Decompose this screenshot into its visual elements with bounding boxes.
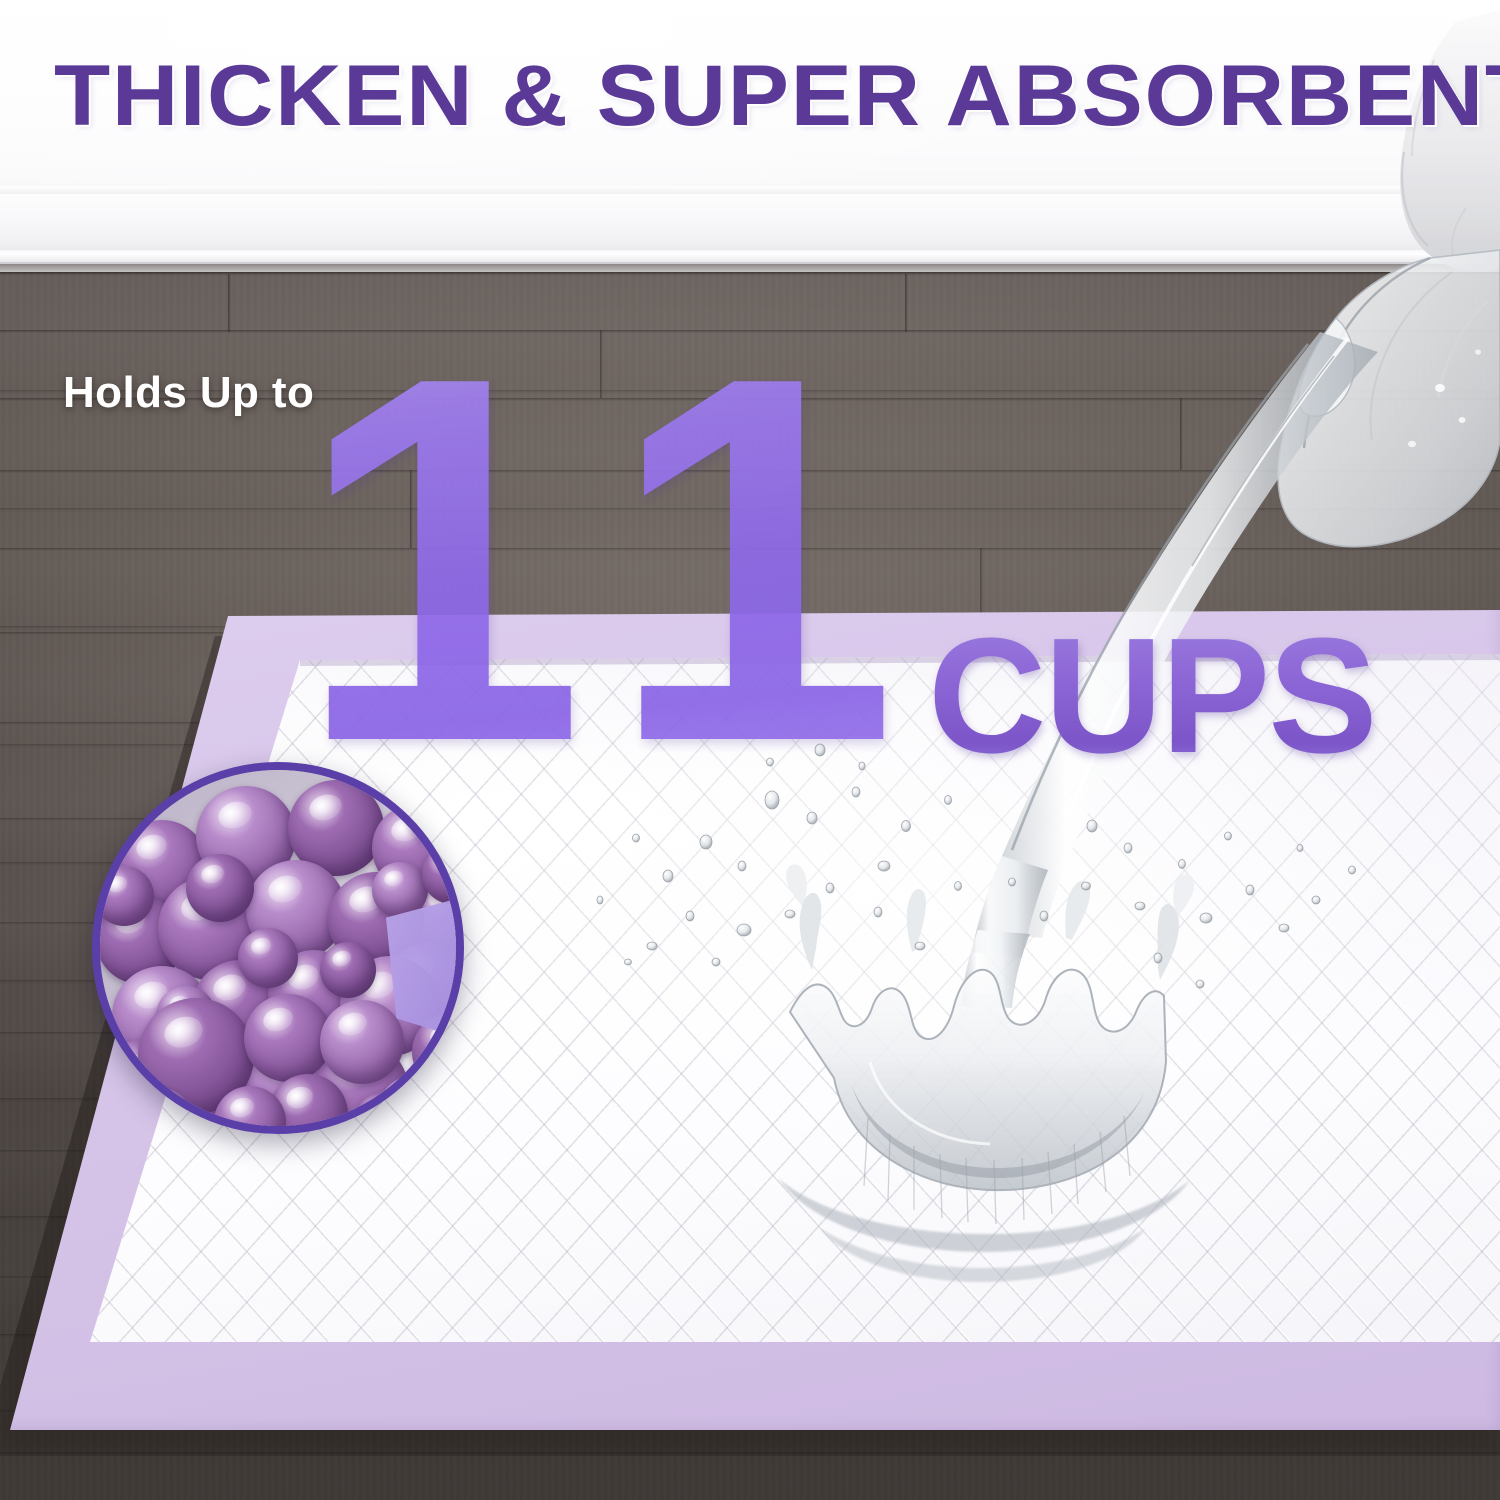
- gel-bead: [238, 928, 298, 988]
- holds-up-to-label: Holds Up to: [63, 368, 314, 418]
- pad-border-wedge: [386, 898, 460, 1038]
- cups-amount: 11: [296, 300, 950, 820]
- baseboard-top-edge: [0, 186, 1500, 194]
- gel-bead: [186, 854, 254, 922]
- baseboard-lip: [0, 250, 1500, 264]
- gel-bead: [244, 994, 332, 1082]
- product-feature-image: 11 CUPS Holds Up to THICKEN & SUPER ABSO…: [0, 0, 1500, 1500]
- gel-bead-closeup-inset: [92, 762, 464, 1134]
- gel-bead: [320, 1000, 404, 1084]
- gel-bead: [320, 942, 376, 998]
- cups-unit-label: CUPS: [928, 614, 1376, 778]
- page-title: THICKEN & SUPER ABSORBENT: [54, 50, 1466, 142]
- baseboard-molding: [0, 194, 1500, 256]
- gel-bead: [94, 866, 154, 926]
